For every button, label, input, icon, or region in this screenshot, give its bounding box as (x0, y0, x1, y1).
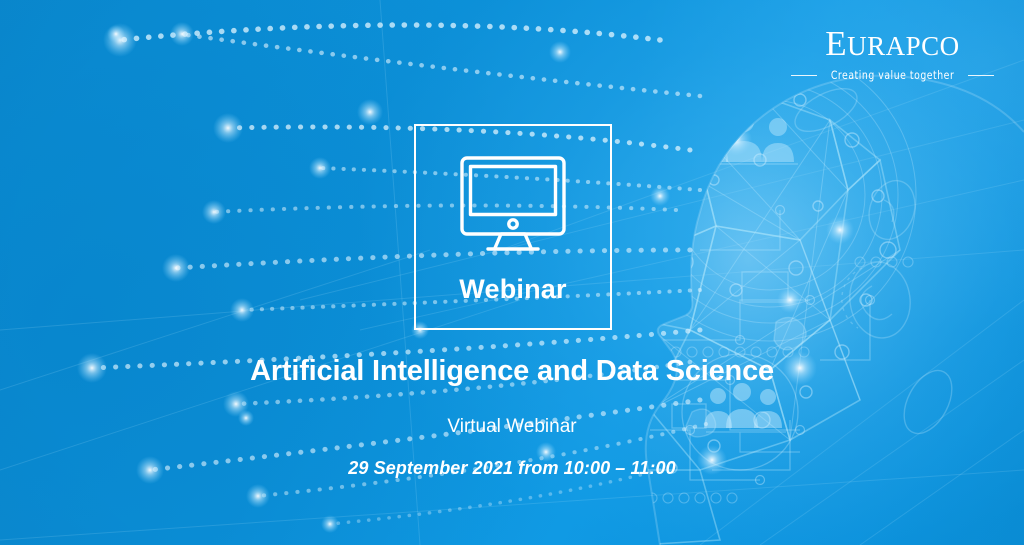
tagline-rule-left (791, 75, 817, 76)
eurapco-logo: EURAPCO Creating value together (791, 26, 994, 82)
tagline-rule-right (968, 75, 994, 76)
logo-wordmark: EURAPCO (791, 26, 994, 61)
webinar-poster: EURAPCO Creating value together Webinar … (0, 0, 1024, 545)
badge-label: Webinar (459, 274, 566, 305)
logo-wordmark-rest: URAPCO (847, 31, 960, 61)
desktop-monitor-icon (455, 152, 571, 256)
logo-wordmark-lead: E (825, 24, 847, 63)
event-title: Artificial Intelligence and Data Science (0, 355, 1024, 388)
people-group-icon (696, 112, 794, 162)
event-format: Virtual Webinar (0, 416, 1024, 438)
tagline-text: Creating value together (831, 68, 954, 82)
webinar-badge: Webinar (414, 124, 612, 330)
event-datetime: 29 September 2021 from 10:00 – 11:00 (0, 458, 1024, 479)
logo-tagline: Creating value together (791, 68, 994, 82)
